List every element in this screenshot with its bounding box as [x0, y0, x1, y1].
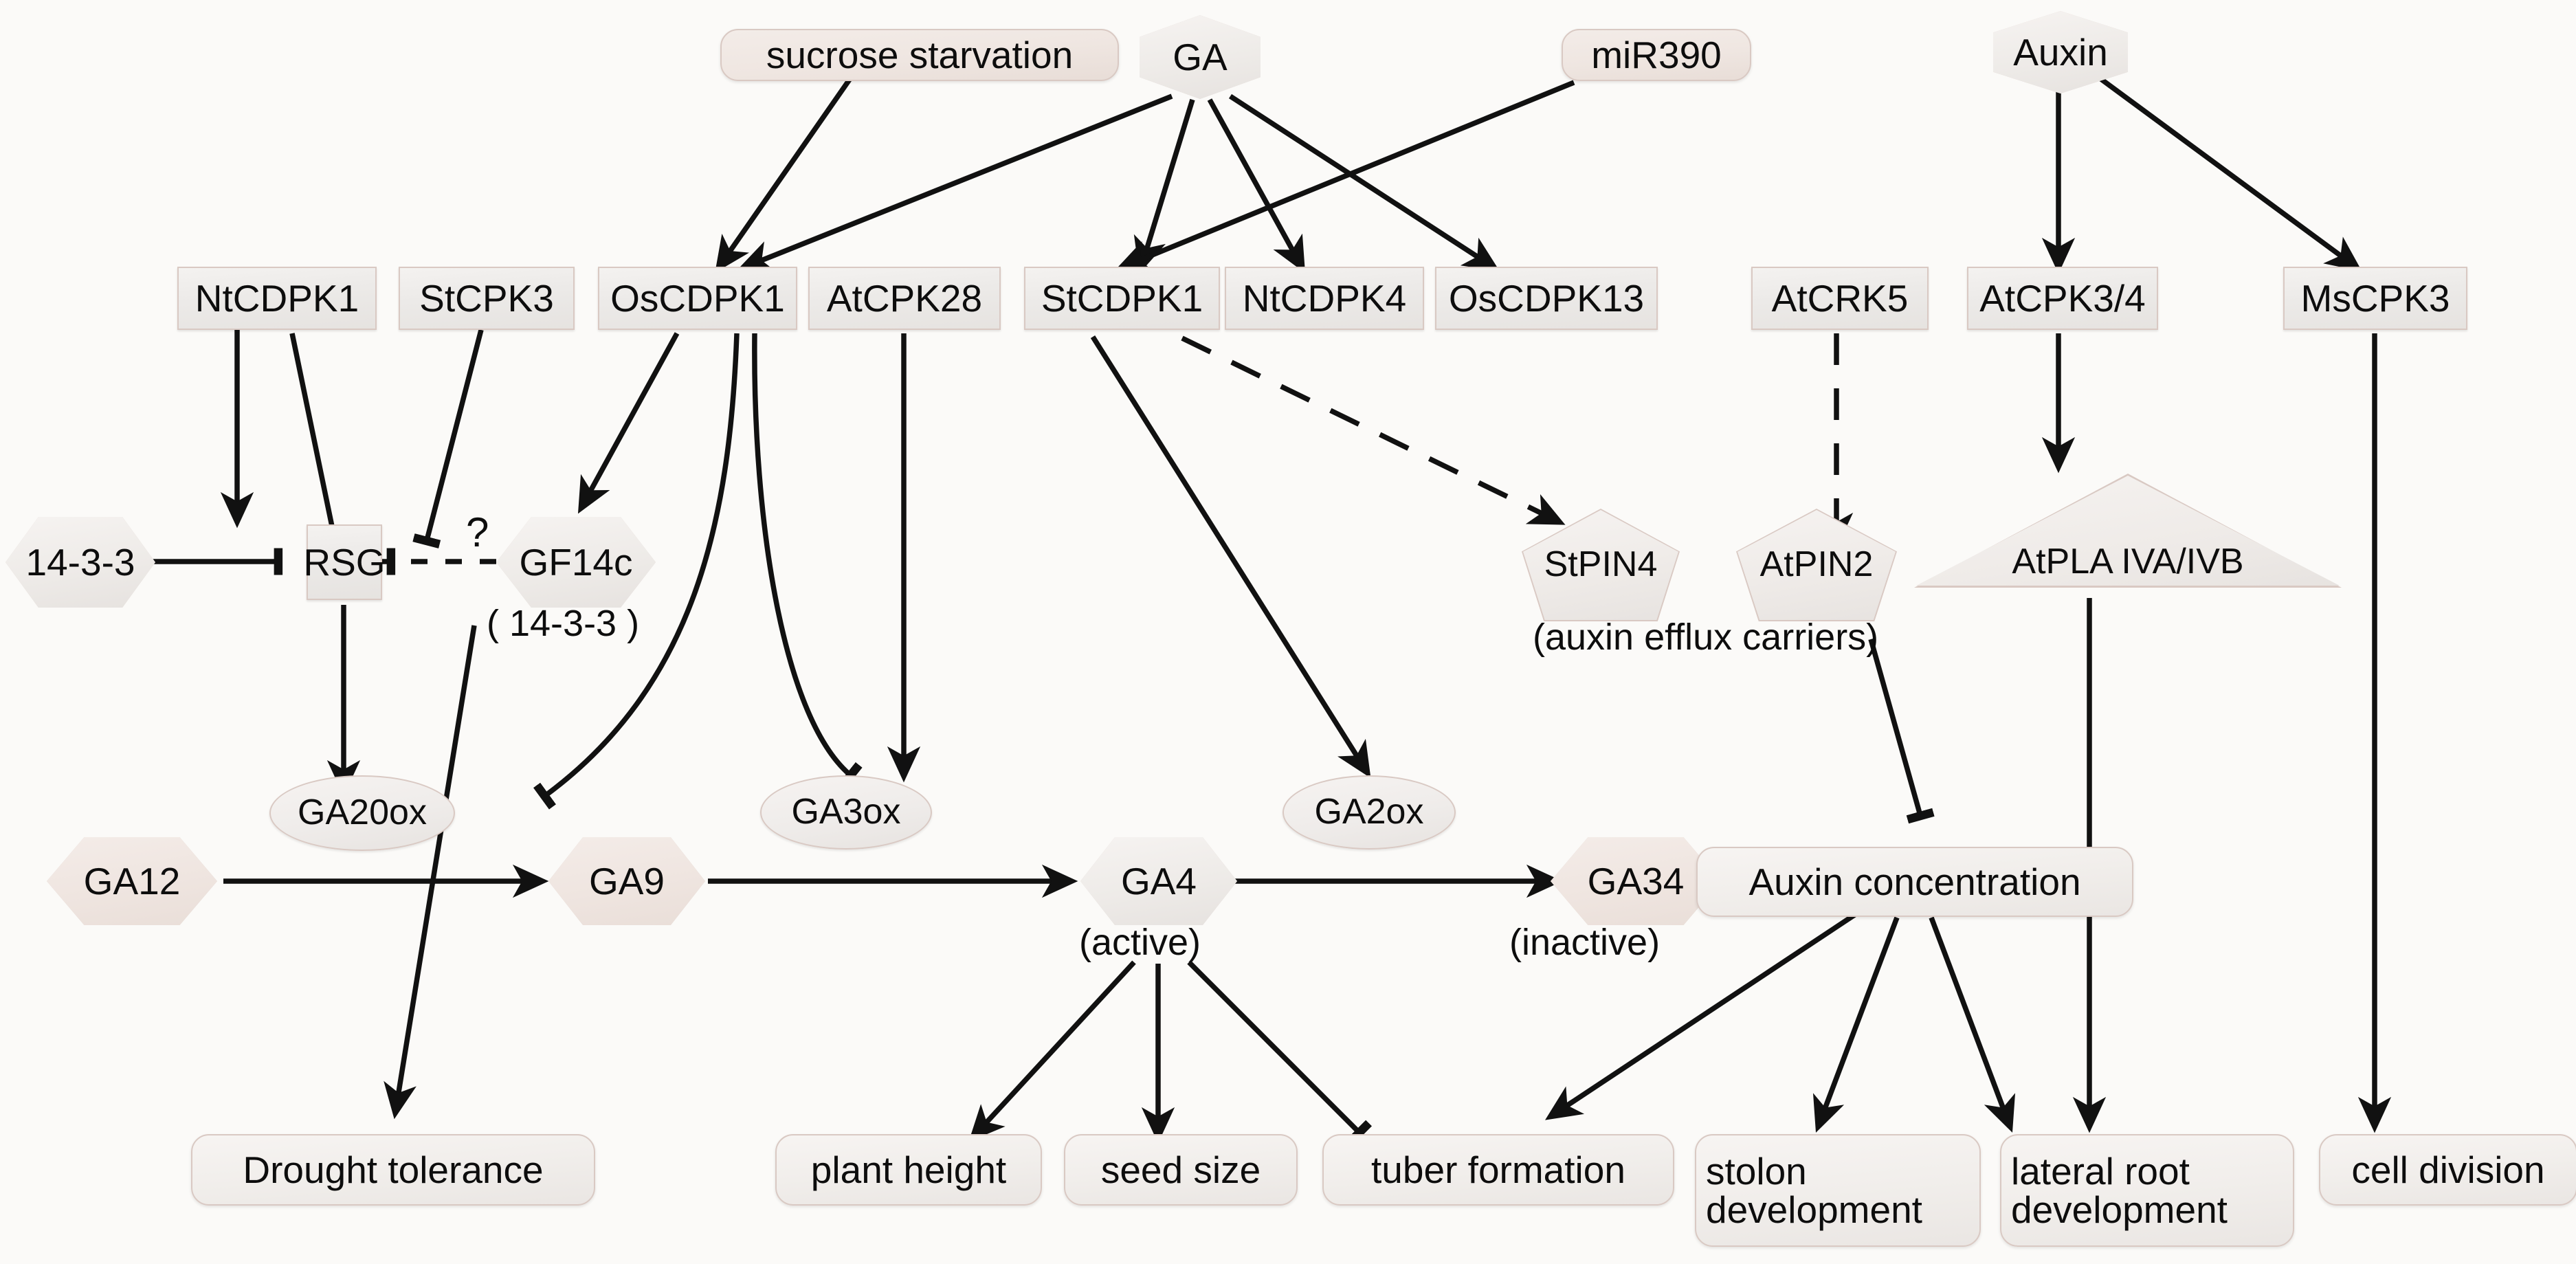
node-label: Auxin concentration	[1748, 863, 2080, 901]
node-stolon-development[interactable]: stolon development	[1695, 1134, 1981, 1247]
node-label: GA4	[1121, 862, 1197, 900]
node-label: sucrose starvation	[766, 36, 1073, 74]
gf14c-alias-caption: ( 14-3-3 )	[487, 602, 639, 645]
node-tuber-formation[interactable]: tuber formation	[1322, 1134, 1674, 1206]
node-label: GA2ox	[1315, 794, 1424, 830]
node-label: OsCDPK13	[1449, 279, 1644, 318]
node-mscpk3[interactable]: MsCPK3	[2283, 267, 2467, 330]
node-lateral-root-development[interactable]: lateral root development	[2000, 1134, 2294, 1247]
node-label: RSG	[303, 543, 385, 581]
node-label-line-1: stolon	[1706, 1152, 1807, 1190]
node-label: GA3ox	[792, 794, 901, 830]
node-label: StCPK3	[419, 279, 554, 318]
node-gf14c[interactable]: GF14c	[496, 517, 656, 608]
node-label-line-2: development	[1706, 1190, 1922, 1229]
node-atcpk28[interactable]: AtCPK28	[808, 267, 1001, 330]
ga34-state-caption: (inactive)	[1509, 921, 1660, 964]
node-ntcdpk1[interactable]: NtCDPK1	[177, 267, 377, 330]
node-atcrk5[interactable]: AtCRK5	[1751, 267, 1929, 330]
node-atpin2[interactable]: AtPIN2	[1737, 510, 1896, 620]
node-label: AtPLA IVA/IVB	[2012, 544, 2243, 580]
node-label: plant height	[811, 1151, 1006, 1189]
node-label: GA20ox	[298, 795, 427, 831]
node-stpin4[interactable]: StPIN4	[1523, 510, 1678, 620]
unknown-interaction-question-mark: ?	[466, 509, 489, 556]
node-atpla-iva-ivb[interactable]: AtPLA IVA/IVB	[1916, 476, 2340, 586]
node-14-3-3[interactable]: 14-3-3	[5, 517, 155, 608]
node-label: AtCPK3/4	[1979, 279, 2146, 318]
node-label-line-1: lateral root	[2011, 1152, 2190, 1190]
node-seed-size[interactable]: seed size	[1064, 1134, 1298, 1206]
node-label: GA12	[84, 862, 181, 900]
node-oscdpk13[interactable]: OsCDPK13	[1435, 267, 1658, 330]
node-ga4[interactable]: GA4	[1080, 837, 1237, 925]
node-ga34[interactable]: GA34	[1551, 837, 1721, 925]
node-sucrose-starvation[interactable]: sucrose starvation	[720, 29, 1119, 81]
node-label: Auxin	[2013, 33, 2108, 71]
node-cell-division[interactable]: cell division	[2319, 1134, 2576, 1206]
node-mir390[interactable]: miR390	[1562, 29, 1751, 81]
ga4-state-caption: (active)	[1079, 921, 1201, 964]
node-label: AtCPK28	[827, 279, 982, 318]
node-label: cell division	[2351, 1151, 2544, 1189]
node-label: GA34	[1588, 862, 1685, 900]
node-label: GA	[1173, 38, 1227, 76]
node-plant-height[interactable]: plant height	[775, 1134, 1042, 1206]
node-label: MsCPK3	[2301, 279, 2450, 318]
node-label: seed size	[1101, 1151, 1261, 1189]
node-ga-signal[interactable]: GA	[1140, 15, 1261, 99]
node-label: tuber formation	[1371, 1151, 1625, 1189]
edge-layer	[0, 0, 2576, 1264]
node-label: 14-3-3	[26, 543, 135, 581]
node-drought-tolerance[interactable]: Drought tolerance	[191, 1134, 595, 1206]
node-label: AtCRK5	[1772, 279, 1909, 318]
node-stcpk3[interactable]: StCPK3	[399, 267, 575, 330]
node-label: GF14c	[519, 543, 632, 581]
node-label: miR390	[1591, 36, 1722, 74]
node-label-line-2: development	[2011, 1190, 2228, 1229]
node-label: StCDPK1	[1041, 279, 1203, 318]
node-ntcdpk4[interactable]: NtCDPK4	[1225, 267, 1424, 330]
node-label: StPIN4	[1544, 546, 1658, 583]
node-auxin-concentration[interactable]: Auxin concentration	[1696, 847, 2133, 917]
node-atcpk34[interactable]: AtCPK3/4	[1967, 267, 2158, 330]
node-ga12[interactable]: GA12	[47, 837, 217, 925]
node-label: Drought tolerance	[243, 1151, 543, 1189]
pathway-diagram-canvas: sucrose starvation GA miR390 Auxin NtCDP…	[0, 0, 2576, 1264]
node-ga2ox[interactable]: GA2ox	[1283, 775, 1456, 850]
node-ga20ox[interactable]: GA20ox	[269, 775, 455, 851]
node-ga9[interactable]: GA9	[548, 837, 705, 925]
node-rsg[interactable]: RSG	[307, 524, 382, 600]
node-label: NtCDPK4	[1243, 279, 1406, 318]
node-auxin-signal[interactable]: Auxin	[1993, 11, 2128, 93]
node-label: AtPIN2	[1760, 546, 1874, 583]
node-stcdpk1[interactable]: StCDPK1	[1024, 267, 1220, 330]
node-label: NtCDPK1	[195, 279, 359, 318]
node-label: OsCDPK1	[610, 279, 785, 318]
node-ga3ox[interactable]: GA3ox	[760, 775, 932, 850]
node-oscdpk1[interactable]: OsCDPK1	[598, 267, 797, 330]
node-label: GA9	[589, 862, 665, 900]
auxin-efflux-carriers-caption: (auxin efflux carriers)	[1533, 616, 1878, 658]
